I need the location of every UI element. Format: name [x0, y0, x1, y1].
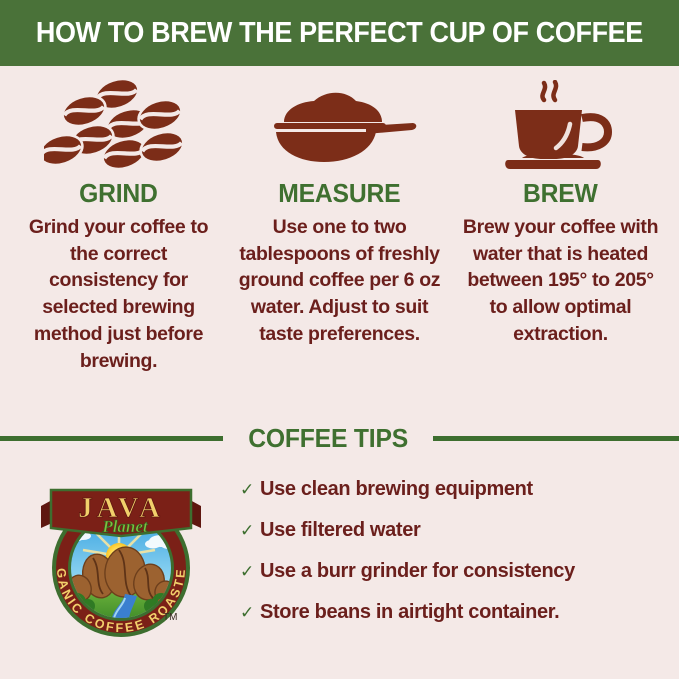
measuring-spoon-icon — [262, 80, 418, 172]
java-planet-logo: ORGANIC COFFEE ROASTERS JAVA Planet TM — [0, 456, 240, 647]
tip-text: Use clean brewing equipment — [260, 478, 533, 500]
bottom-section: ORGANIC COFFEE ROASTERS JAVA Planet TM ✓… — [0, 456, 679, 679]
trademark-mark: TM — [163, 612, 177, 623]
list-item: ✓ Use a burr grinder for consistency — [240, 560, 665, 582]
step-brew: BREW Brew your coffee with water that is… — [450, 66, 671, 348]
coffee-cup-icon — [498, 80, 624, 172]
steps-section: GRIND Grind your coffee to the correct c… — [0, 66, 679, 421]
list-item: ✓ Use clean brewing equipment — [240, 478, 665, 500]
step-title-measure: MEASURE — [278, 178, 400, 209]
coffee-tips-heading: COFFEE TIPS — [248, 423, 408, 454]
step-grind: GRIND Grind your coffee to the correct c… — [8, 66, 229, 374]
divider-rule-left — [0, 436, 223, 441]
logo-brand-script: Planet — [101, 517, 149, 536]
check-icon: ✓ — [240, 481, 260, 498]
tip-text: Store beans in airtight container. — [260, 601, 559, 623]
list-item: ✓ Store beans in airtight container. — [240, 601, 665, 623]
step-title-brew: BREW — [523, 178, 598, 209]
step-measure: MEASURE Use one to two tablespoons of fr… — [229, 66, 450, 348]
header-bar: HOW TO BREW THE PERFECT CUP OF COFFEE — [0, 0, 679, 66]
tip-text: Use filtered water — [260, 519, 420, 541]
coffee-beans-icon — [44, 80, 194, 172]
page-title: HOW TO BREW THE PERFECT CUP OF COFFEE — [36, 17, 643, 50]
coffee-tips-list: ✓ Use clean brewing equipment ✓ Use filt… — [240, 456, 679, 642]
step-body-grind: Grind your coffee to the correct consist… — [8, 214, 229, 374]
check-icon: ✓ — [240, 604, 260, 621]
coffee-tips-divider: COFFEE TIPS — [0, 420, 679, 456]
check-icon: ✓ — [240, 522, 260, 539]
step-body-brew: Brew your coffee with water that is heat… — [450, 214, 671, 348]
step-body-measure: Use one to two tablespoons of freshly gr… — [229, 214, 450, 348]
step-title-grind: GRIND — [79, 178, 158, 209]
divider-rule-right — [433, 436, 679, 441]
tip-text: Use a burr grinder for consistency — [260, 560, 575, 582]
list-item: ✓ Use filtered water — [240, 519, 665, 541]
check-icon: ✓ — [240, 563, 260, 580]
